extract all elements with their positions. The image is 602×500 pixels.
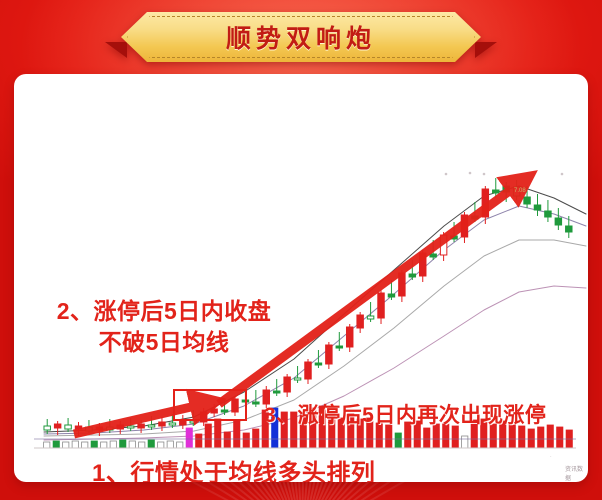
volume-bar [120, 440, 126, 448]
candle [284, 374, 290, 397]
volume-bar [72, 441, 78, 448]
volume-bar [215, 419, 221, 448]
trend-arrow-upper [219, 184, 519, 404]
candle [378, 290, 384, 324]
candle [545, 200, 551, 222]
volume-bar [139, 442, 145, 448]
title-banner: 顺势双响炮 [121, 12, 481, 62]
volume-bar [424, 428, 430, 448]
candle [346, 324, 352, 352]
volume-bar [547, 425, 553, 448]
candle [555, 208, 561, 230]
volume-bar [243, 433, 249, 448]
volume-bar [528, 429, 534, 448]
volume-bar [129, 441, 135, 448]
watermark-mark1: · [550, 454, 552, 460]
volume-bar [63, 442, 69, 448]
volume-bar [519, 426, 525, 448]
candle [534, 194, 540, 216]
volume-bar [234, 421, 240, 448]
annotation-rule-3: 3、涨停后5日内再次出现涨停 [264, 399, 546, 429]
chart-marker-dot [561, 173, 564, 176]
volume-bar [196, 434, 202, 448]
price-label: 7.08 [514, 188, 526, 194]
chart-marker-dot [483, 173, 486, 176]
volume-bar [82, 442, 88, 448]
volume-bar [148, 440, 154, 448]
volume-bar [205, 424, 211, 448]
candle [65, 418, 71, 432]
volume-bar [462, 436, 468, 448]
volume-bar [224, 432, 230, 448]
volume-bar [186, 428, 192, 448]
volume-bar [253, 429, 259, 448]
annotation-rule-1: 1、行情处于均线多头排列 [92, 453, 375, 482]
chart-marker-dot [469, 172, 472, 175]
candle [566, 216, 572, 238]
candle [54, 421, 60, 435]
volume-bar [53, 441, 59, 448]
volume-bar [44, 442, 50, 448]
volume-bar [538, 427, 544, 448]
candle [180, 415, 186, 429]
volume-bar [167, 441, 173, 448]
volume-bar [91, 441, 97, 448]
volume-bar [101, 442, 107, 448]
page-title: 顺势双响炮 [121, 12, 481, 62]
volume-bar [158, 442, 164, 448]
annotation-rule-2: 2、涨停后5日内收盘 不破5日均线 [38, 296, 290, 358]
volume-bar [557, 427, 563, 448]
candle [357, 312, 363, 333]
candle [294, 366, 300, 383]
volume-bar [177, 442, 183, 448]
candle [326, 342, 332, 369]
annotation-rule-2-line-2: 不破5日均线 [38, 327, 290, 358]
annotation-rule-2-line-1: 2、涨停后5日内收盘 [38, 296, 290, 327]
candle [305, 359, 311, 384]
volume-bar [110, 441, 116, 448]
watermark-mark2: 资讯数据 [565, 464, 588, 482]
candle [159, 417, 165, 431]
candle [273, 379, 279, 396]
chart-card: 7.08 2、涨停后5日内收盘 不破5日均线 3、涨停后5日内再次出现涨停 1、… [14, 74, 588, 482]
volume-bar [395, 433, 401, 448]
chart-marker-dot [445, 173, 448, 176]
volume-bar [452, 426, 458, 448]
